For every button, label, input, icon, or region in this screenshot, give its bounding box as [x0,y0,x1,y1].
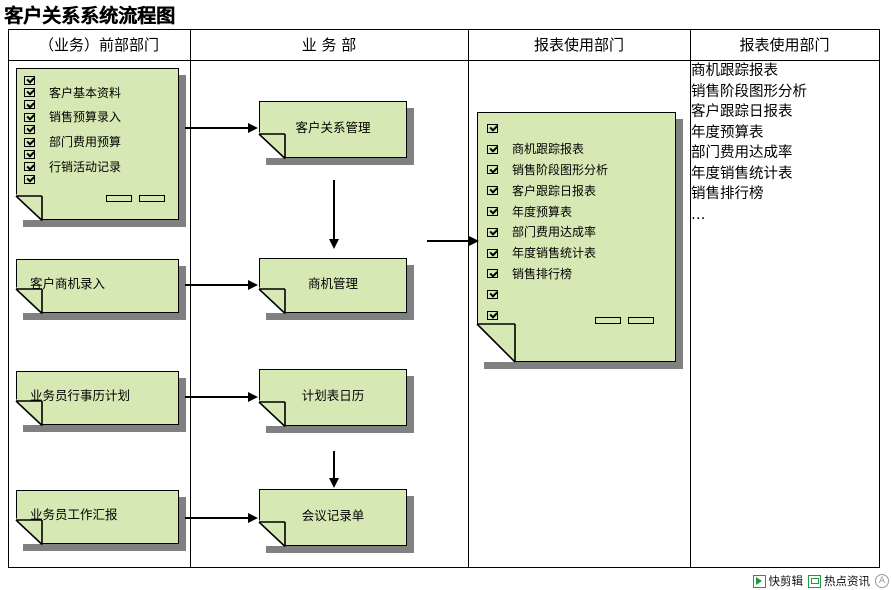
checklist-row: 销售预算录入 [24,111,121,123]
document-bar-icon [628,317,654,324]
checklist-row: 部门费用达成率 [487,222,608,243]
checkbox-checked-icon [24,113,35,122]
checklist-row [24,173,121,185]
checklist-row: 销售排行榜 [487,264,608,285]
node-label: 客户商机录入 [30,273,105,292]
checklist-row [24,148,121,160]
arrow-opportunity-entry-to-opportunity-mgmt [185,284,249,286]
circle-icon[interactable]: A [875,574,889,588]
arrow-crm-to-opportunity-mgmt [333,180,335,240]
node-meeting-record[interactable]: 会议记录单 [259,489,407,546]
table-border-right [879,29,880,568]
checklist-label: 客户跟踪日报表 [512,185,596,197]
checkbox-checked-icon [487,165,498,174]
document-reports-checklist[interactable]: 商机跟踪报表 销售阶段图形分析 客户跟踪日报表 年度预算表 部门费用达成率 年度… [477,112,676,362]
node-customer-opportunity-entry[interactable]: 客户商机录入 [16,259,179,313]
column-header-report-dept-1: 报表使用部门 [468,32,690,58]
tray-item-hot-news[interactable]: 热点资讯 [808,573,870,589]
page-title: 客户关系系统流程图 [4,1,175,28]
checklist-label: 年度销售统计表 [512,247,596,259]
checklist-label: 部门费用预算 [49,136,121,148]
checkbox-checked-icon [24,76,35,85]
column-header-report-dept-2: 报表使用部门 [690,32,879,58]
node-sales-work-report[interactable]: 业务员工作汇报 [16,490,179,544]
document-bars [595,317,654,324]
checklist-label: 客户基本资料 [49,87,121,99]
node-opportunity-management[interactable]: 商机管理 [259,258,407,313]
node-plan-calendar[interactable]: 计划表日历 [259,369,407,426]
checkbox-checked-icon [487,228,498,237]
node-label: 计划表日历 [259,385,407,404]
checkbox-checked-icon [24,162,35,171]
checklist-front-dept: 客户基本资料 销售预算录入 部门费用预算 [24,74,121,186]
report-list-item: 部门费用达成率 [691,143,807,164]
folded-corner-icon [16,194,42,220]
node-label: 会议记录单 [259,505,407,524]
table-border-left [8,29,9,568]
checklist-reports: 商机跟踪报表 销售阶段图形分析 客户跟踪日报表 年度预算表 部门费用达成率 年度… [487,118,608,326]
arrow-work-report-to-meeting-record [185,517,249,519]
checklist-label: 年度预算表 [512,206,572,218]
checkbox-checked-icon [487,290,498,299]
node-crm-management[interactable]: 客户关系管理 [259,101,407,158]
tray-item-label: 快剪辑 [769,573,804,589]
arrow-calendar-plan-to-plan-calendar [185,396,249,398]
checklist-label: 销售排行榜 [512,268,572,280]
document-front-dept-checklist[interactable]: 客户基本资料 销售预算录入 部门费用预算 [16,68,179,220]
checklist-label: 部门费用达成率 [512,226,596,238]
tray-item-quick-edit[interactable]: 快剪辑 [753,573,804,589]
flowchart-page: 客户关系系统流程图 （业务）前部部门 业 务 部 报表使用部门 报表使用部门 [0,0,891,590]
checkbox-checked-icon [24,125,35,134]
report-list-item: … [691,205,807,226]
folded-corner-icon [477,324,515,362]
arrow-front-dept-to-crm [185,127,249,129]
table-divider-2 [468,29,469,568]
checkbox-checked-icon [24,100,35,109]
checklist-row [487,118,608,139]
checklist-label: 销售阶段图形分析 [512,164,608,176]
checkbox-checked-icon [487,249,498,258]
table-top-border [8,29,880,30]
node-label: 客户关系管理 [259,117,407,136]
checklist-row [487,284,608,305]
checklist-label: 行销活动记录 [49,161,121,173]
checkbox-checked-icon [487,124,498,133]
report-list-item: 销售排行榜 [691,184,807,205]
report-list-item: 客户跟踪日报表 [691,102,807,123]
report-list-item: 销售阶段图形分析 [691,82,807,103]
checkbox-checked-icon [24,138,35,147]
column-header-business-dept: 业 务 部 [190,32,468,58]
arrow-business-to-reports [427,240,470,242]
checklist-row: 客户基本资料 [24,86,121,98]
checklist-row: 商机跟踪报表 [487,139,608,160]
document-bar-icon [106,195,132,202]
column-header-front-dept: （业务）前部部门 [8,32,190,58]
report-list-item: 年度预算表 [691,123,807,144]
checklist-row: 客户跟踪日报表 [487,180,608,201]
tray-item-label: 热点资讯 [824,573,870,589]
document-bar-icon [595,317,621,324]
checkbox-checked-icon [24,150,35,159]
checklist-label: 商机跟踪报表 [512,143,584,155]
checklist-row: 年度销售统计表 [487,243,608,264]
checkbox-checked-icon [487,269,498,278]
document-bars [106,195,165,202]
checklist-row: 销售阶段图形分析 [487,160,608,181]
checkbox-checked-icon [24,88,35,97]
checklist-row [487,305,608,326]
arrow-plan-calendar-to-meeting-record [333,451,335,479]
bottom-tray: 快剪辑 热点资讯 A [753,573,890,589]
checkbox-checked-icon [487,145,498,154]
table-bottom-border [8,567,880,568]
report-list-text: 商机跟踪报表 销售阶段图形分析 客户跟踪日报表 年度预算表 部门费用达成率 年度… [691,61,807,225]
checkbox-checked-icon [487,311,498,320]
checkbox-checked-icon [487,186,498,195]
node-label: 业务员工作汇报 [30,504,118,523]
checkbox-checked-icon [24,175,35,184]
node-label: 业务员行事历计划 [30,385,130,404]
table-divider-1 [190,29,191,568]
document-bar-icon [139,195,165,202]
report-list-item: 商机跟踪报表 [691,61,807,82]
checklist-label: 销售预算录入 [49,111,121,123]
node-label: 商机管理 [259,273,407,292]
checklist-row: 年度预算表 [487,201,608,222]
checklist-row: 部门费用预算 [24,136,121,148]
node-sales-calendar-plan[interactable]: 业务员行事历计划 [16,371,179,425]
checkbox-checked-icon [487,207,498,216]
report-list-item: 年度销售统计表 [691,164,807,185]
checklist-row [24,74,121,86]
monitor-icon [808,575,821,588]
play-icon [753,575,766,588]
checklist-row: 行销活动记录 [24,161,121,173]
